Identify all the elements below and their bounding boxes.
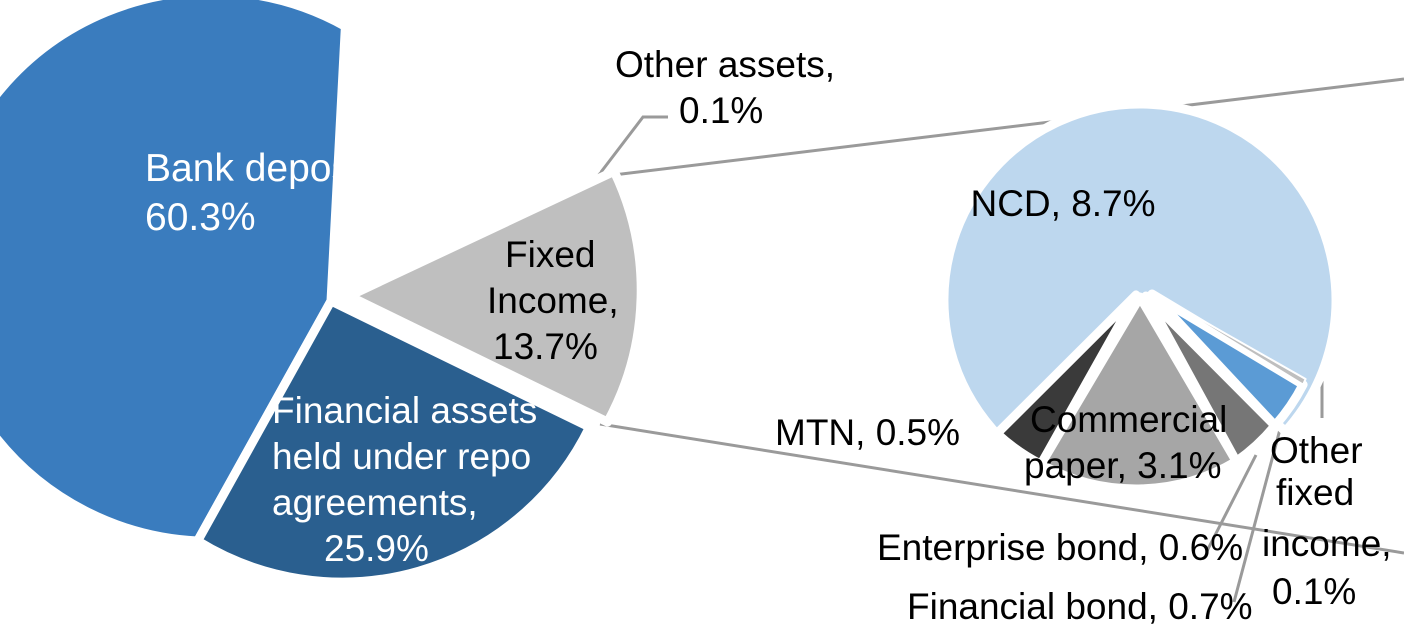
label-financial-bond: Financial bond, 0.7%: [907, 586, 1253, 627]
label-repo-line2: held under repo: [272, 436, 531, 477]
label-other-fixed-line3: income,: [1262, 523, 1392, 564]
label-fixed-income-line2: Income,: [487, 280, 619, 321]
pie-of-pie-chart-canvas: Bank deposits, 60.3% Financial assets he…: [0, 0, 1404, 644]
label-mtn: MTN, 0.5%: [775, 412, 960, 453]
label-repo-line4: 25.9%: [324, 528, 429, 569]
label-fixed-income-line1: Fixed: [505, 234, 595, 275]
leader-line-other-assets: [598, 117, 668, 176]
label-other-fixed-line1: Other: [1270, 430, 1363, 471]
label-other-fixed-line4: 0.1%: [1272, 571, 1356, 612]
label-other-fixed-line2: fixed: [1276, 472, 1354, 513]
label-fixed-income-line3: 13.7%: [493, 326, 598, 367]
label-other-assets-line1: Other assets,: [615, 44, 835, 85]
label-bank-deposits-line2: 60.3%: [145, 196, 256, 239]
label-bank-deposits-line1: Bank deposits,: [145, 147, 401, 190]
label-other-fixed-income: Other fixed income, 0.1%: [1262, 430, 1392, 612]
label-other-assets-line2: 0.1%: [679, 90, 763, 131]
label-repo-line3: agreements,: [272, 482, 478, 523]
label-repo-line1: Financial assets: [272, 390, 537, 431]
chart-svg: Bank deposits, 60.3% Financial assets he…: [0, 0, 1404, 644]
label-commercial-paper-line2: paper, 3.1%: [1024, 445, 1221, 486]
label-ncd: NCD, 8.7%: [970, 183, 1155, 224]
label-enterprise-bond: Enterprise bond, 0.6%: [877, 527, 1243, 568]
label-commercial-paper-line1: Commercial: [1030, 399, 1227, 440]
